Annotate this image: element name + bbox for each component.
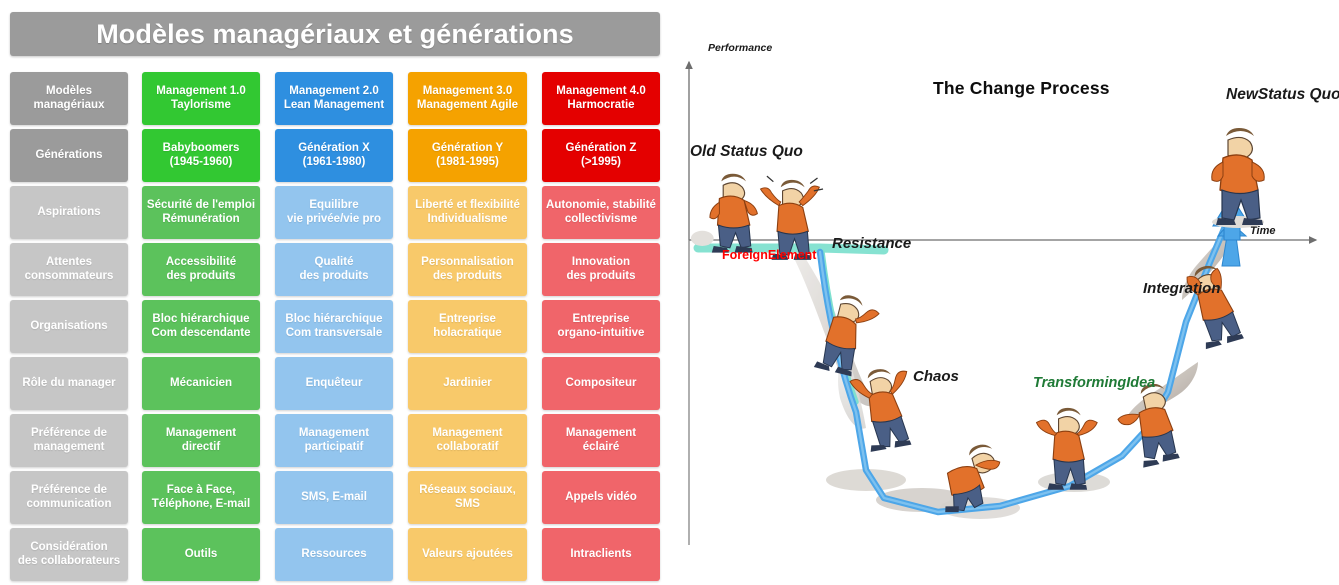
table-cell: Entrepriseholacratique	[408, 300, 527, 353]
table-cell: Enquêteur	[275, 357, 393, 410]
table-cell: Compositeur	[542, 357, 660, 410]
table-cell: Bloc hiérarchiqueCom transversale	[275, 300, 393, 353]
page-title: Modèles managériaux et générations	[96, 19, 574, 50]
table-cell: Génération X(1961-1980)	[275, 129, 393, 182]
models-generations-table: ModèlesmanagériauxManagement 1.0Tayloris…	[0, 72, 670, 585]
row-label-cell: Générations	[10, 129, 128, 182]
table-cell: Managementcollaboratif	[408, 414, 527, 467]
table-row: Préférence decommunicationFace à Face,Té…	[0, 471, 670, 524]
table-cell: Sécurité de l'emploiRémunération	[142, 186, 260, 239]
table-cell: Entrepriseorgano-intuitive	[542, 300, 660, 353]
table-row: Préférence demanagementManagementdirecti…	[0, 414, 670, 467]
table-cell: Management 1.0Taylorisme	[142, 72, 260, 125]
table-row: ModèlesmanagériauxManagement 1.0Tayloris…	[0, 72, 670, 125]
change-process-panel: Performance Time The Change Process Old …	[670, 0, 1339, 571]
row-label-cell: Considérationdes collaborateurs	[10, 528, 128, 581]
table-cell: Management 3.0Management Agile	[408, 72, 527, 125]
change-process-chart	[670, 0, 1339, 571]
table-cell: Liberté et flexibilitéIndividualisme	[408, 186, 527, 239]
table-row: AttentesconsommateursAccessibilitédes pr…	[0, 243, 670, 296]
table-row: Rôle du managerMécanicienEnquêteurJardin…	[0, 357, 670, 410]
row-label-cell: Modèlesmanagériaux	[10, 72, 128, 125]
table-row: OrganisationsBloc hiérarchiqueCom descen…	[0, 300, 670, 353]
table-cell: Autonomie, stabilitécollectivisme	[542, 186, 660, 239]
table-cell: Intraclients	[542, 528, 660, 581]
table-cell: Valeurs ajoutées	[408, 528, 527, 581]
table-cell: Génération Z(>1995)	[542, 129, 660, 182]
table-cell: Management 2.0Lean Management	[275, 72, 393, 125]
figure-old-status-quo	[691, 174, 758, 253]
table-cell: Equilibrevie privée/vie pro	[275, 186, 393, 239]
managerial-models-table-panel: Modèles managériaux et générations Modèl…	[0, 0, 670, 571]
table-cell: Managementéclairé	[542, 414, 660, 467]
row-label-cell: Aspirations	[10, 186, 128, 239]
table-cell: Managementdirectif	[142, 414, 260, 467]
table-cell: Appels vidéo	[542, 471, 660, 524]
table-cell: Accessibilitédes produits	[142, 243, 260, 296]
table-cell: Jardinier	[408, 357, 527, 410]
table-cell: Innovationdes produits	[542, 243, 660, 296]
slide-canvas: Modèles managériaux et générations Modèl…	[0, 0, 1339, 571]
table-cell: Réseaux sociaux,SMS	[408, 471, 527, 524]
row-label-cell: Préférence demanagement	[10, 414, 128, 467]
table-cell: Qualitédes produits	[275, 243, 393, 296]
panel-title-bar: Modèles managériaux et générations	[10, 12, 660, 56]
table-cell: Face à Face,Téléphone, E-mail	[142, 471, 260, 524]
table-cell: Ressources	[275, 528, 393, 581]
table-cell: Outils	[142, 528, 260, 581]
table-cell: Personnalisationdes produits	[408, 243, 527, 296]
table-cell: Babyboomers(1945-1960)	[142, 129, 260, 182]
row-label-cell: Préférence decommunication	[10, 471, 128, 524]
table-cell: Managementparticipatif	[275, 414, 393, 467]
table-cell: SMS, E-mail	[275, 471, 393, 524]
row-label-cell: Organisations	[10, 300, 128, 353]
row-label-cell: Rôle du manager	[10, 357, 128, 410]
change-curve-path	[820, 196, 1250, 512]
row-label-cell: Attentesconsommateurs	[10, 243, 128, 296]
table-row: AspirationsSécurité de l'emploiRémunérat…	[0, 186, 670, 239]
table-cell: Mécanicien	[142, 357, 260, 410]
table-cell: Bloc hiérarchiqueCom descendante	[142, 300, 260, 353]
table-cell: Génération Y(1981-1995)	[408, 129, 527, 182]
table-row: GénérationsBabyboomers(1945-1960)Générat…	[0, 129, 670, 182]
table-row: Considérationdes collaborateursOutilsRes…	[0, 528, 670, 581]
table-cell: Management 4.0Harmocratie	[542, 72, 660, 125]
